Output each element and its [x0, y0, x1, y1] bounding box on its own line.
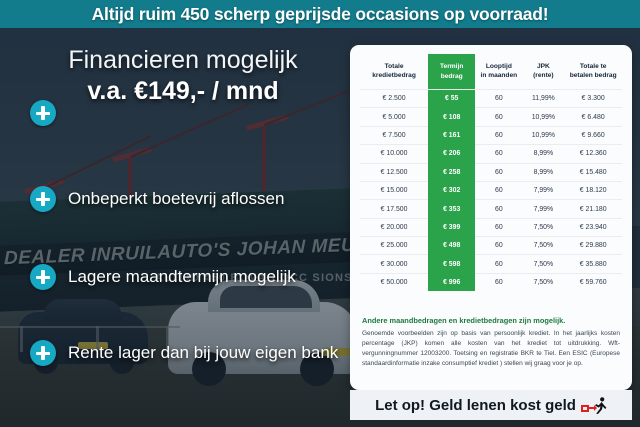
cell-termijn: € 498	[428, 237, 475, 255]
feature-item-0-label: Onbeperkt boetevrij aflossen	[68, 189, 284, 209]
cell-krediet: € 15.000	[360, 181, 428, 199]
cell-termijn: € 258	[428, 163, 475, 181]
warning-bar: Let op! Geld lenen kost geld	[350, 390, 632, 420]
cell-jkp: 11,99%	[522, 90, 564, 108]
col-header-termijn-l1: Termijn	[440, 63, 463, 70]
cell-jkp: 7,50%	[522, 255, 564, 273]
col-header-krediet-l2: kredietbedrag	[372, 72, 416, 79]
cell-krediet: € 12.500	[360, 163, 428, 181]
cell-krediet: € 5.000	[360, 108, 428, 126]
cell-termijn: € 353	[428, 200, 475, 218]
table-row: € 7.500€ 1616010,99%€ 9.660	[360, 126, 622, 144]
cell-termijn: € 108	[428, 108, 475, 126]
table-row: € 17.500€ 353607,99%€ 21.180	[360, 200, 622, 218]
cell-totaal: € 6.480	[564, 108, 622, 126]
finance-note-body: Genoemde voorbeelden zijn op basis van p…	[362, 329, 620, 369]
cell-krediet: € 25.000	[360, 237, 428, 255]
cell-termijn: € 996	[428, 273, 475, 291]
col-header-totaal: Totale te betalen bedrag	[564, 55, 622, 90]
table-row: € 30.000€ 598607,50%€ 35.880	[360, 255, 622, 273]
col-header-totaal-l2: betalen bedrag	[570, 72, 617, 79]
finance-table-body: € 2.500€ 556011,99%€ 3.300€ 5.000€ 10860…	[360, 90, 622, 292]
cell-looptijd: 60	[475, 255, 522, 273]
finance-card: Totale kredietbedrag Termijn bedrag Loop…	[350, 45, 632, 390]
cell-jkp: 7,50%	[522, 218, 564, 236]
col-header-jkp-l2: (rente)	[533, 72, 554, 79]
finance-table: Totale kredietbedrag Termijn bedrag Loop…	[360, 54, 622, 291]
cell-krediet: € 30.000	[360, 255, 428, 273]
cell-looptijd: 60	[475, 218, 522, 236]
cell-totaal: € 9.660	[564, 126, 622, 144]
table-row: € 50.000€ 996607,50%€ 59.760	[360, 273, 622, 291]
cell-termijn: € 302	[428, 181, 475, 199]
table-row: € 15.000€ 302607,99%€ 18.120	[360, 181, 622, 199]
cell-totaal: € 21.180	[564, 200, 622, 218]
top-promo-banner-text: Altijd ruim 450 scherp geprijsde occasio…	[92, 4, 549, 25]
cell-looptijd: 60	[475, 181, 522, 199]
cell-looptijd: 60	[475, 108, 522, 126]
cell-totaal: € 59.760	[564, 273, 622, 291]
warning-text: Let op! Geld lenen kost geld	[375, 397, 576, 414]
table-row: € 12.500€ 258608,99%€ 15.480	[360, 163, 622, 181]
headline-block: Financieren mogelijk v.a. €149,- / mnd	[28, 46, 338, 106]
cell-termijn: € 206	[428, 145, 475, 163]
col-header-termijn: Termijn bedrag	[428, 55, 475, 90]
cell-jkp: 10,99%	[522, 108, 564, 126]
cell-looptijd: 60	[475, 90, 522, 108]
cell-totaal: € 35.880	[564, 255, 622, 273]
cell-jkp: 8,99%	[522, 163, 564, 181]
running-man-exit-icon	[581, 397, 607, 414]
cell-krediet: € 2.500	[360, 90, 428, 108]
col-header-jkp: JPK (rente)	[522, 55, 564, 90]
feature-item-2-label: Rente lager dan bij jouw eigen bank	[68, 343, 338, 363]
feature-item-2: Rente lager dan bij jouw eigen bank	[30, 340, 338, 366]
plus-icon	[30, 264, 56, 290]
plus-icon	[30, 340, 56, 366]
cell-jkp: 7,99%	[522, 181, 564, 199]
cell-totaal: € 15.480	[564, 163, 622, 181]
cell-jkp: 7,99%	[522, 200, 564, 218]
cell-totaal: € 3.300	[564, 90, 622, 108]
col-header-looptijd: Looptijd in maanden	[475, 55, 522, 90]
col-header-looptijd-l2: in maanden	[481, 72, 518, 79]
cell-looptijd: 60	[475, 237, 522, 255]
cell-krediet: € 10.000	[360, 145, 428, 163]
col-header-looptijd-l1: Looptijd	[486, 63, 512, 70]
plus-icon	[30, 186, 56, 212]
feature-item-0: Onbeperkt boetevrij aflossen	[30, 186, 284, 212]
cell-totaal: € 18.120	[564, 181, 622, 199]
table-row: € 5.000€ 1086010,99%€ 6.480	[360, 108, 622, 126]
table-row: € 2.500€ 556011,99%€ 3.300	[360, 90, 622, 108]
cell-looptijd: 60	[475, 273, 522, 291]
headline-line-2: v.a. €149,- / mnd	[28, 76, 338, 106]
features-panel: Financieren mogelijk v.a. €149,- / mnd O…	[0, 30, 345, 420]
table-header-row: Totale kredietbedrag Termijn bedrag Loop…	[360, 55, 622, 90]
col-header-jkp-l1: JPK	[537, 63, 550, 70]
cell-looptijd: 60	[475, 163, 522, 181]
finance-note-title: Andere maandbedragen en kredietbedragen …	[362, 316, 620, 325]
cell-jkp: 7,50%	[522, 237, 564, 255]
cell-krediet: € 7.500	[360, 126, 428, 144]
table-row: € 25.000€ 498607,50%€ 29.880	[360, 237, 622, 255]
cell-termijn: € 161	[428, 126, 475, 144]
headline-line-1: Financieren mogelijk	[28, 46, 338, 74]
col-header-krediet-l1: Totale	[385, 63, 404, 70]
cell-jkp: 7,50%	[522, 273, 564, 291]
col-header-totaal-l1: Totale te	[580, 63, 607, 70]
cell-termijn: € 399	[428, 218, 475, 236]
cell-jkp: 8,99%	[522, 145, 564, 163]
col-header-termijn-l2: bedrag	[441, 73, 463, 80]
feature-item-1: Lagere maandtermijn mogelijk	[30, 264, 296, 290]
cell-totaal: € 29.880	[564, 237, 622, 255]
cell-looptijd: 60	[475, 200, 522, 218]
table-row: € 20.000€ 399607,50%€ 23.940	[360, 218, 622, 236]
cell-jkp: 10,99%	[522, 126, 564, 144]
feature-item-1-label: Lagere maandtermijn mogelijk	[68, 267, 296, 287]
cell-termijn: € 598	[428, 255, 475, 273]
table-row: € 10.000€ 206608,99%€ 12.360	[360, 145, 622, 163]
cell-totaal: € 12.360	[564, 145, 622, 163]
cell-totaal: € 23.940	[564, 218, 622, 236]
cell-looptijd: 60	[475, 126, 522, 144]
cell-krediet: € 50.000	[360, 273, 428, 291]
promo-banner-root: DEALER INRUILAUTO'S JOHAN MEURE ALTIJD 4…	[0, 0, 640, 427]
col-header-krediet: Totale kredietbedrag	[360, 55, 428, 90]
cell-termijn: € 55	[428, 90, 475, 108]
cell-krediet: € 17.500	[360, 200, 428, 218]
finance-note: Andere maandbedragen en kredietbedragen …	[362, 316, 620, 369]
cell-looptijd: 60	[475, 145, 522, 163]
top-promo-banner: Altijd ruim 450 scherp geprijsde occasio…	[0, 0, 640, 28]
cell-krediet: € 20.000	[360, 218, 428, 236]
